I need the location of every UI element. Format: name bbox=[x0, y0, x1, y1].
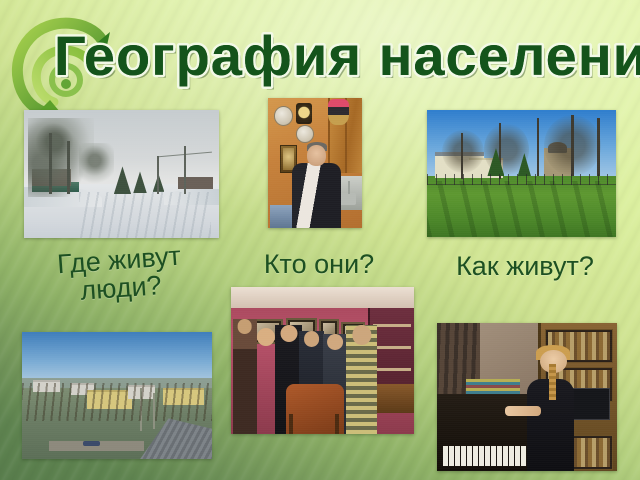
title-fill-layer: География населения bbox=[54, 24, 640, 87]
photo-man-portrait bbox=[268, 98, 362, 228]
slide-title: География населения География населения … bbox=[52, 27, 636, 91]
photo-winter-village bbox=[24, 110, 219, 238]
photo-girl-piano bbox=[437, 323, 617, 471]
slide-canvas: География населения География населения … bbox=[0, 0, 640, 480]
photo-museum-group bbox=[231, 287, 414, 434]
caption-how-do-they-live: Как живут? bbox=[420, 252, 630, 280]
photo-town-panorama bbox=[22, 332, 212, 459]
caption-who-are-they: Кто они? bbox=[234, 250, 404, 278]
photo-spring-park bbox=[427, 110, 616, 237]
